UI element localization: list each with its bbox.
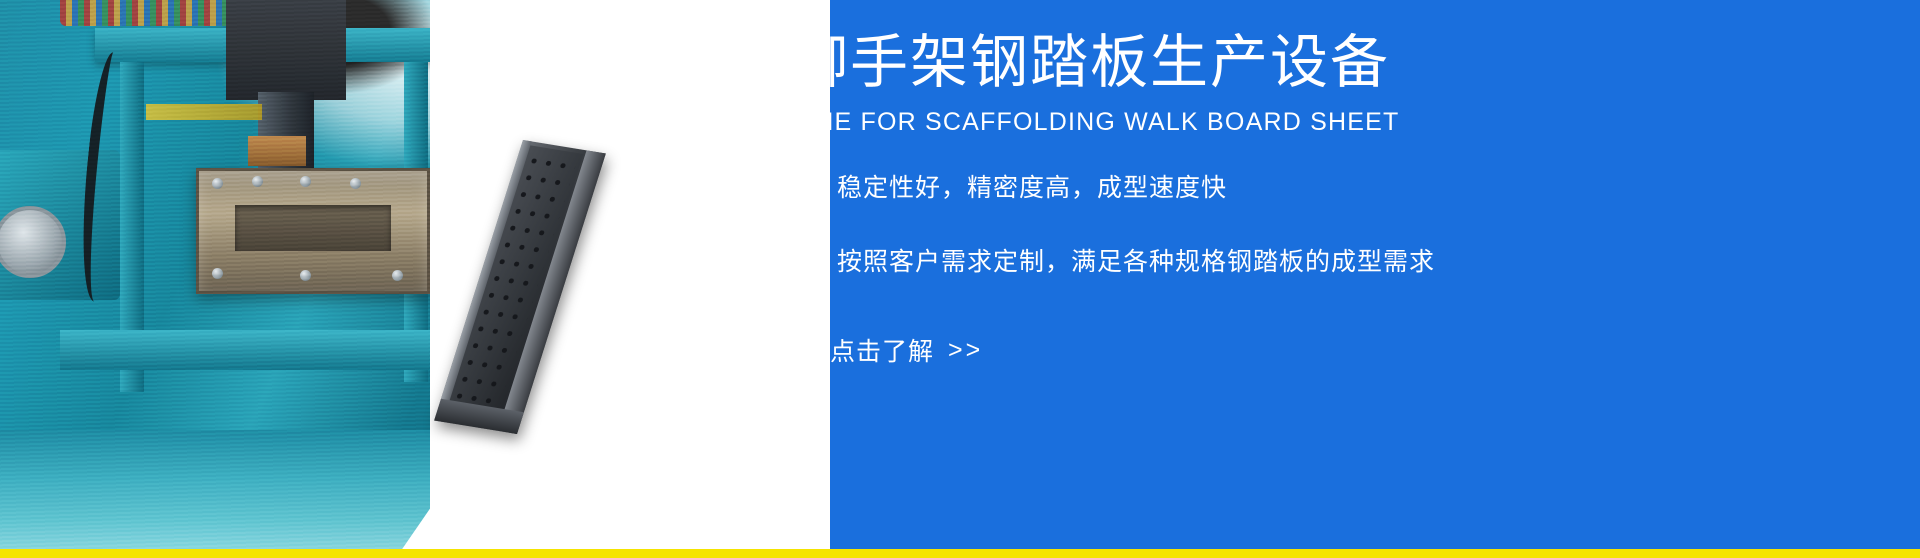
- cta-label: 点击了解: [830, 332, 934, 368]
- feature-item: 稳定性好，精密度高，成型速度快: [792, 168, 1792, 204]
- checkbox-square-icon: [792, 249, 815, 272]
- promo-banner: 脚手架钢踏板生产设备 LINE FOR SCAFFOLDING WALK BOA…: [0, 0, 1920, 558]
- banner-title: 脚手架钢踏板生产设备: [790, 33, 1390, 94]
- feature-item-label: 稳定性好，精密度高，成型速度快: [837, 168, 1227, 204]
- product-photo: [505, 140, 695, 430]
- feature-item-label: 按照客户需求定制，满足各种规格钢踏板的成型需求: [837, 242, 1435, 278]
- feature-list: 稳定性好，精密度高，成型速度快 按照客户需求定制，满足各种规格钢踏板的成型需求: [792, 168, 1792, 316]
- banner-content: 脚手架钢踏板生产设备 LINE FOR SCAFFOLDING WALK BOA…: [790, 0, 1900, 558]
- checkbox-square-icon: [792, 175, 815, 198]
- feature-item: 按照客户需求定制，满足各种规格钢踏板的成型需求: [792, 242, 1792, 278]
- cta-link[interactable]: 点击了解 >>: [830, 332, 983, 368]
- banner-subtitle: LINE FOR SCAFFOLDING WALK BOARD SHEET: [792, 108, 1399, 137]
- bottom-accent-strip: [0, 549, 1920, 558]
- chevron-right-icon: >>: [948, 336, 983, 365]
